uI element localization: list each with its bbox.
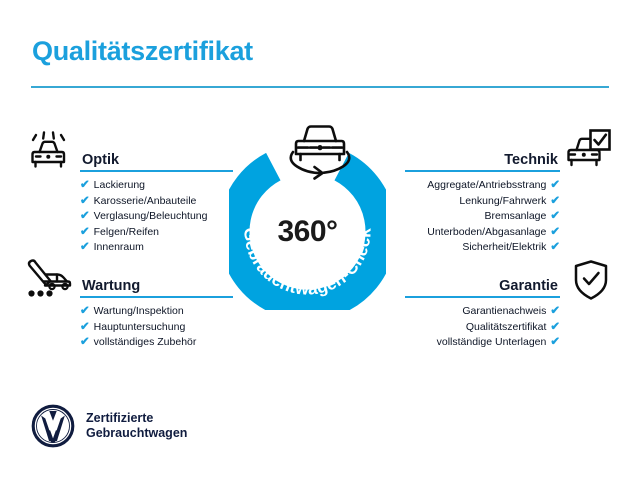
check-icon: ✔: [550, 194, 560, 210]
list-item: ✔ Hauptuntersuchung: [80, 320, 233, 336]
section-header: Technik: [405, 146, 560, 172]
check-icon: ✔: [550, 320, 560, 336]
section-header: Optik: [80, 146, 233, 172]
check-icon: ✔: [550, 178, 560, 194]
list-item: ✔ Wartung/Inspektion: [80, 304, 233, 320]
list-item-label: Wartung/Inspektion: [94, 304, 184, 320]
list-item-label: Qualitätszertifikat: [466, 320, 547, 336]
list-item: Unterboden/Abgasanlage ✔: [405, 225, 560, 241]
section-item-list: Garantienachweis ✔ Qualitätszertifikat ✔…: [405, 304, 560, 351]
list-item-label: vollständiges Zubehör: [94, 335, 197, 351]
check-icon: ✔: [80, 194, 90, 210]
list-item-label: Felgen/Reifen: [94, 225, 159, 241]
section-divider: [405, 296, 560, 298]
check-icon: ✔: [80, 240, 90, 256]
list-item-label: Karosserie/Anbauteile: [94, 194, 197, 210]
list-item-label: vollständige Unterlagen: [437, 335, 547, 351]
section-item-list: Aggregate/Antriebsstrang ✔ Lenkung/Fahrw…: [405, 178, 560, 256]
section-divider: [80, 170, 233, 172]
check-icon: ✔: [80, 320, 90, 336]
check-icon: ✔: [550, 304, 560, 320]
section-title: Wartung: [82, 278, 140, 294]
list-item: Qualitätszertifikat ✔: [405, 320, 560, 336]
shield-check-icon: [573, 259, 609, 306]
section-divider: [80, 296, 233, 298]
footer-text: Zertifizierte Gebrauchtwagen: [86, 411, 187, 441]
section-item-list: ✔ Wartung/Inspektion ✔ Hauptuntersuchung…: [80, 304, 233, 351]
list-item: ✔ vollständiges Zubehör: [80, 335, 233, 351]
list-item: ✔ Felgen/Reifen: [80, 225, 233, 241]
list-item: vollständige Unterlagen ✔: [405, 335, 560, 351]
list-item-label: Bremsanlage: [484, 209, 546, 225]
section-wartung: Wartung ✔ Wartung/Inspektion ✔ Hauptunte…: [80, 272, 233, 351]
section-title: Garantie: [499, 278, 558, 294]
check-icon: ✔: [80, 335, 90, 351]
list-item: ✔ Karosserie/Anbauteile: [80, 194, 233, 210]
check-icon: ✔: [550, 240, 560, 256]
check-icon: ✔: [80, 209, 90, 225]
list-item-label: Lackierung: [94, 178, 145, 194]
car-rotation-icon: [283, 119, 357, 181]
list-item: Bremsanlage ✔: [405, 209, 560, 225]
list-item: Garantienachweis ✔: [405, 304, 560, 320]
car-shine-icon: [27, 131, 73, 178]
list-item-label: Aggregate/Antriebsstrang: [427, 178, 546, 194]
page-title: Qualitätszertifikat: [32, 36, 253, 67]
list-item: Aggregate/Antriebsstrang ✔: [405, 178, 560, 194]
list-item-label: Sicherheit/Elektrik: [462, 240, 546, 256]
check-icon: ✔: [80, 225, 90, 241]
footer-line-2: Gebrauchtwagen: [86, 426, 187, 441]
list-item: Lenkung/Fahrwerk ✔: [405, 194, 560, 210]
vw-logo-icon: [31, 404, 75, 448]
list-item: ✔ Innenraum: [80, 240, 233, 256]
car-checkbox-icon: [566, 128, 612, 177]
quality-certificate-page: Qualitätszertifikat: [0, 0, 640, 480]
check-icon: ✔: [80, 304, 90, 320]
check-icon: ✔: [550, 225, 560, 241]
section-header: Wartung: [80, 272, 233, 298]
section-header: Garantie: [405, 272, 560, 298]
list-item-label: Unterboden/Abgasanlage: [427, 225, 546, 241]
section-optik: Optik ✔ Lackierung ✔ Karosserie/Anbautei…: [80, 146, 233, 256]
section-garantie: Garantie Garantienachweis ✔ Qualitätszer…: [405, 272, 560, 351]
list-item-label: Hauptuntersuchung: [94, 320, 186, 336]
list-item-label: Verglasung/Beleuchtung: [94, 209, 208, 225]
list-item: Sicherheit/Elektrik ✔: [405, 240, 560, 256]
list-item-label: Garantienachweis: [462, 304, 546, 320]
list-item: ✔ Verglasung/Beleuchtung: [80, 209, 233, 225]
check-icon: ✔: [550, 209, 560, 225]
check-icon: ✔: [550, 335, 560, 351]
section-item-list: ✔ Lackierung ✔ Karosserie/Anbauteile ✔ V…: [80, 178, 233, 256]
section-divider: [405, 170, 560, 172]
section-title: Optik: [82, 152, 119, 168]
list-item-label: Innenraum: [94, 240, 144, 256]
list-item-label: Lenkung/Fahrwerk: [459, 194, 546, 210]
title-divider: [31, 86, 609, 88]
footer-brand: Zertifizierte Gebrauchtwagen: [31, 404, 187, 448]
section-technik: Technik Aggregate/Antriebsstrang ✔ Lenku…: [405, 146, 560, 256]
footer-line-1: Zertifizierte: [86, 411, 187, 426]
list-item: ✔ Lackierung: [80, 178, 233, 194]
wrench-car-icon: [25, 258, 73, 305]
section-title: Technik: [504, 152, 558, 168]
check-icon: ✔: [80, 178, 90, 194]
